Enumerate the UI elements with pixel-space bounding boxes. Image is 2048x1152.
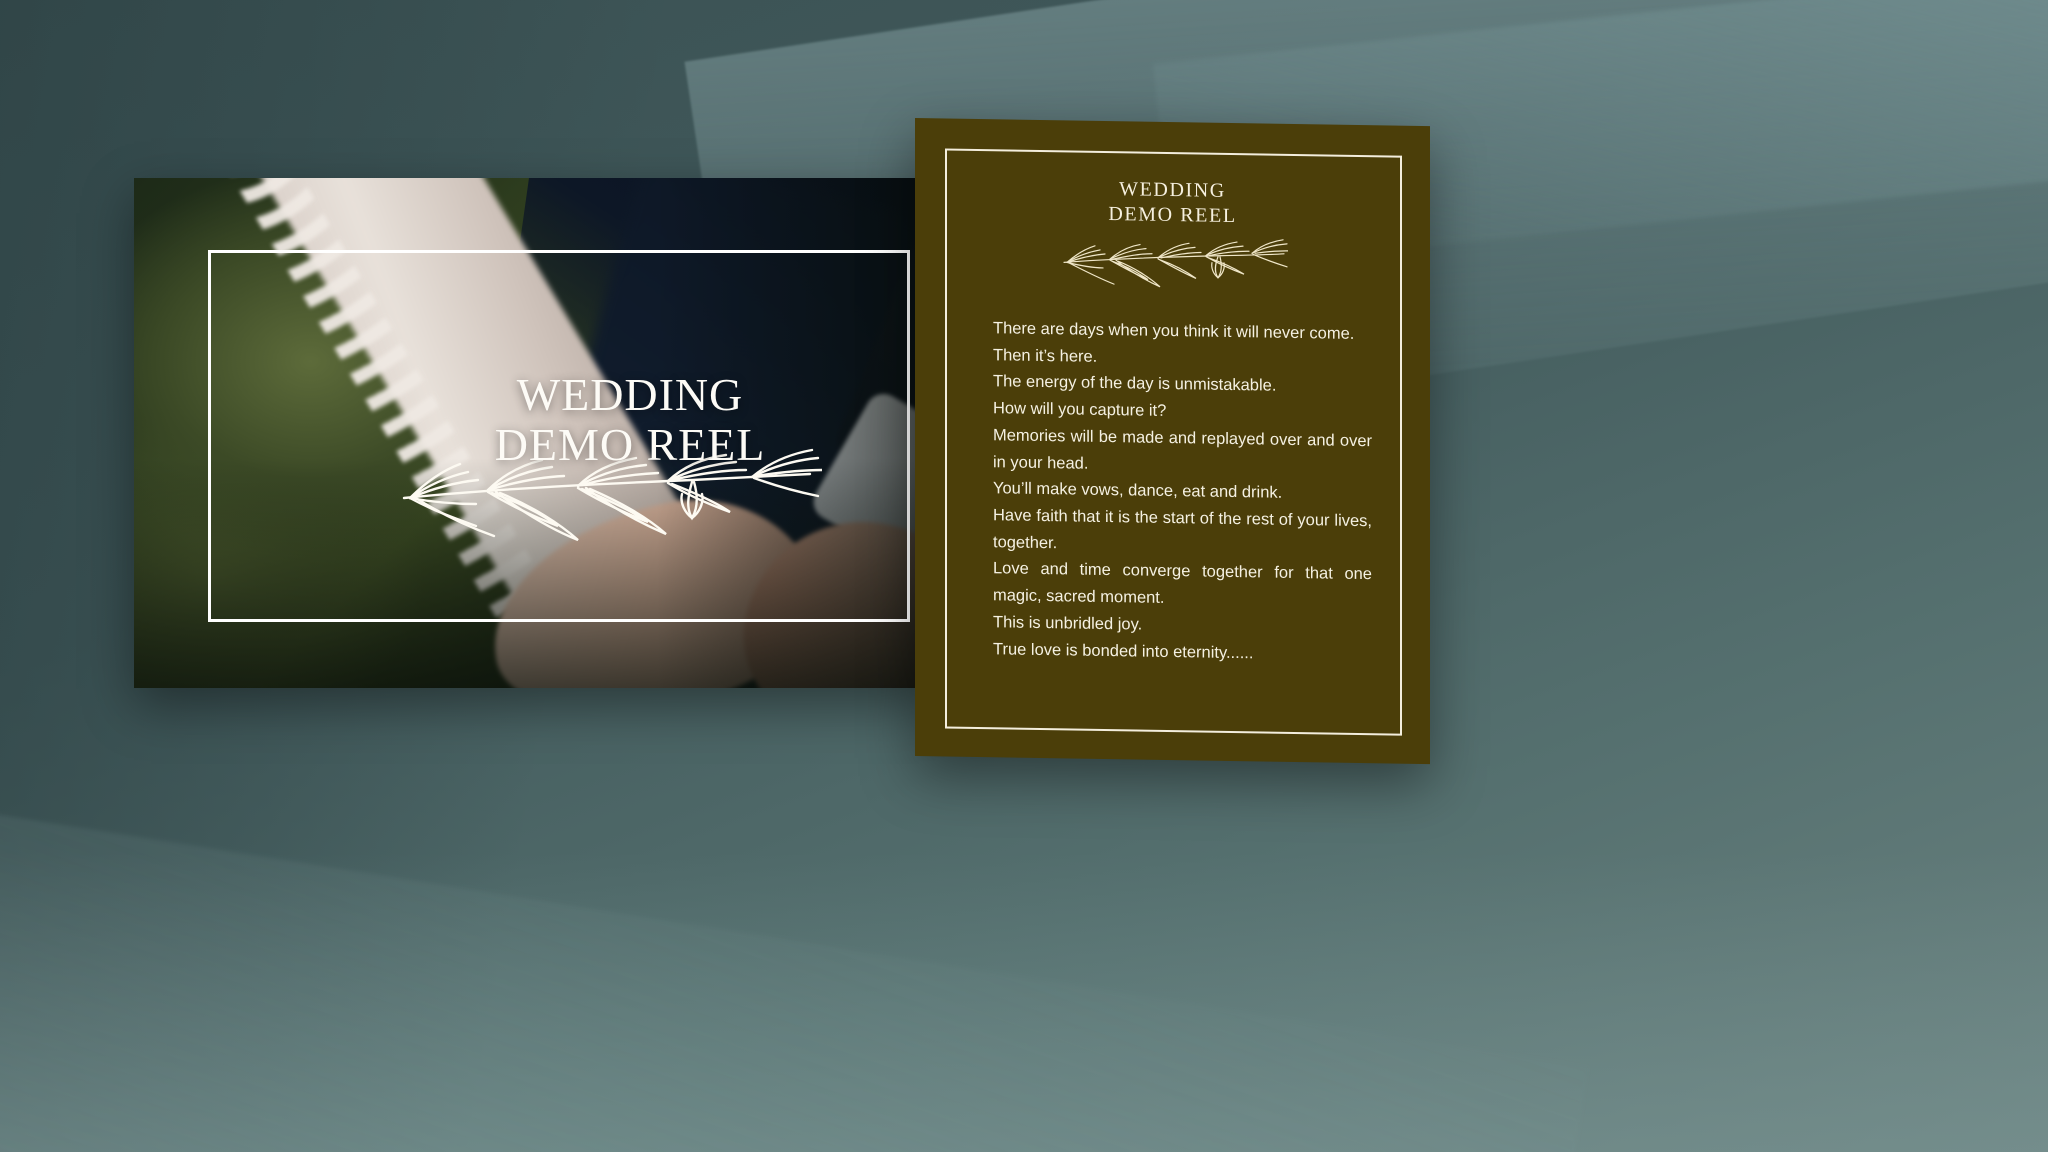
photo-title-line-2: DEMO REEL — [420, 420, 840, 470]
body-line: Memories will be made and replayed over … — [993, 422, 1372, 481]
photo-title-line-1: WEDDING — [420, 370, 840, 420]
panel-heading-block: WEDDING DEMO REEL — [915, 174, 1430, 232]
wedding-text-panel[interactable]: WEDDING DEMO REEL — [915, 118, 1430, 764]
slide-canvas: WEDDING DEMO REEL WEDDING DEMO REEL — [0, 0, 2048, 1152]
panel-body-text: There are days when you think it will ne… — [993, 315, 1372, 668]
photo-title-block: WEDDING DEMO REEL — [420, 370, 840, 469]
botanical-branch-ornament — [1058, 232, 1288, 292]
body-line: Have faith that it is the start of the r… — [993, 502, 1372, 561]
body-line: Love and time converge together for that… — [993, 556, 1372, 615]
body-line: True love is bonded into eternity...... — [993, 636, 1372, 669]
panel-inner-area: WEDDING DEMO REEL — [915, 118, 1430, 764]
